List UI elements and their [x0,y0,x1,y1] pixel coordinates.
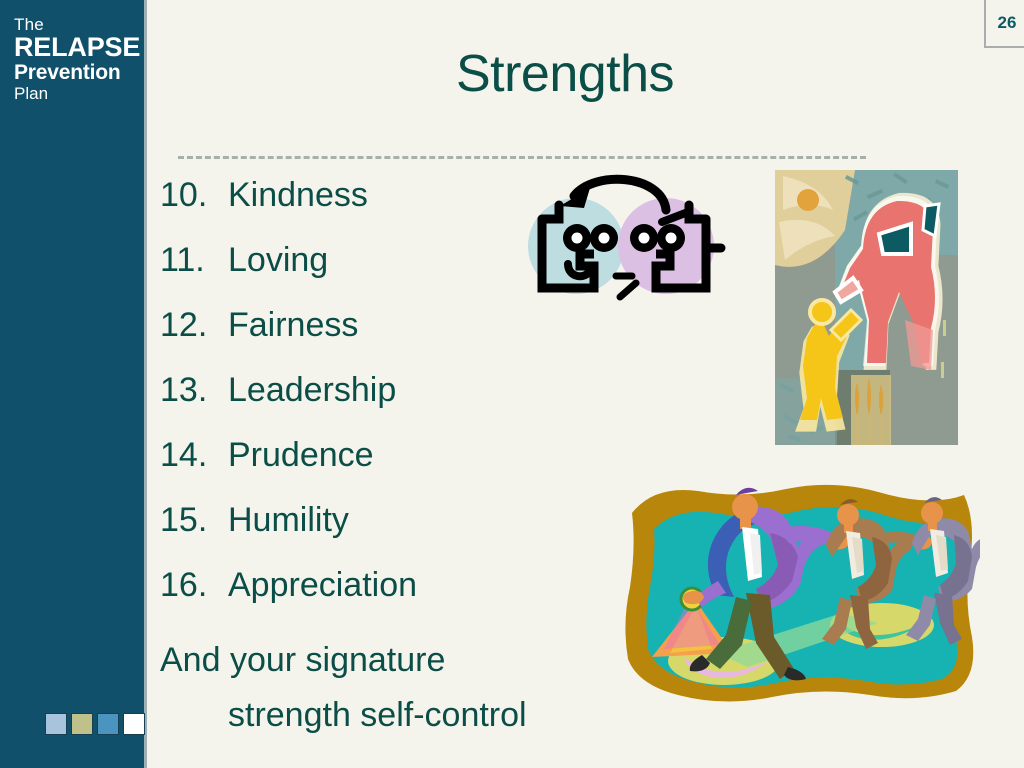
brand-line-relapse: RELAPSE [14,34,144,62]
list-item-label: Appreciation [228,566,560,605]
closing-text: And your signature strength self-control [160,633,560,743]
list-item-number: 12. [160,306,228,345]
slide: The RELAPSE Prevention Plan 26 Strengths… [0,0,1024,768]
list-item-number: 11. [160,241,228,280]
closing-line-1: And your signature [160,633,560,688]
list-item: 10. Kindness [160,176,560,241]
brand-line-the: The [14,16,144,33]
list-item-number: 13. [160,371,228,410]
list-item: 11. Loving [160,241,560,306]
sidebar [0,0,144,768]
list-item-number: 14. [160,436,228,475]
sidebar-divider-rule [144,0,147,768]
brand-line-plan: Plan [14,85,144,102]
list-item: 12. Fairness [160,306,560,371]
list-item-number: 15. [160,501,228,540]
list-item-number: 10. [160,176,228,215]
closing-line-2: strength self-control [160,688,560,743]
dashed-divider [178,156,866,159]
list-item-label: Loving [228,241,560,280]
brand-logo: The RELAPSE Prevention Plan [14,16,144,103]
list-item: 13. Leadership [160,371,560,436]
brand-line-prevention: Prevention [14,62,144,83]
swatch-4 [123,713,145,735]
swatch-2 [71,713,93,735]
two-faces-illustration [516,166,732,306]
page-number: 26 [994,13,1017,33]
swatch-3 [97,713,119,735]
list-item-label: Fairness [228,306,560,345]
list-item-label: Kindness [228,176,560,215]
list-item: 15. Humility [160,501,560,566]
swatch-1 [45,713,67,735]
list-item-label: Prudence [228,436,560,475]
list-item-label: Humility [228,501,560,540]
page-number-box: 26 [984,0,1024,48]
helping-hand-poster-illustration [775,170,958,445]
helping-hand-poster-icon [775,170,958,445]
leader-with-flashlight-icon [620,477,980,709]
list-item: 16. Appreciation [160,566,560,631]
list-item-label: Leadership [228,371,560,410]
list-item: 14. Prudence [160,436,560,501]
list-item-number: 16. [160,566,228,605]
two-faces-icon [516,166,732,306]
leader-with-flashlight-illustration [620,477,980,709]
strengths-list: 10. Kindness 11. Loving 12. Fairness 13.… [160,176,560,743]
sidebar-swatch-row [45,713,145,735]
page-title: Strengths [150,44,980,104]
